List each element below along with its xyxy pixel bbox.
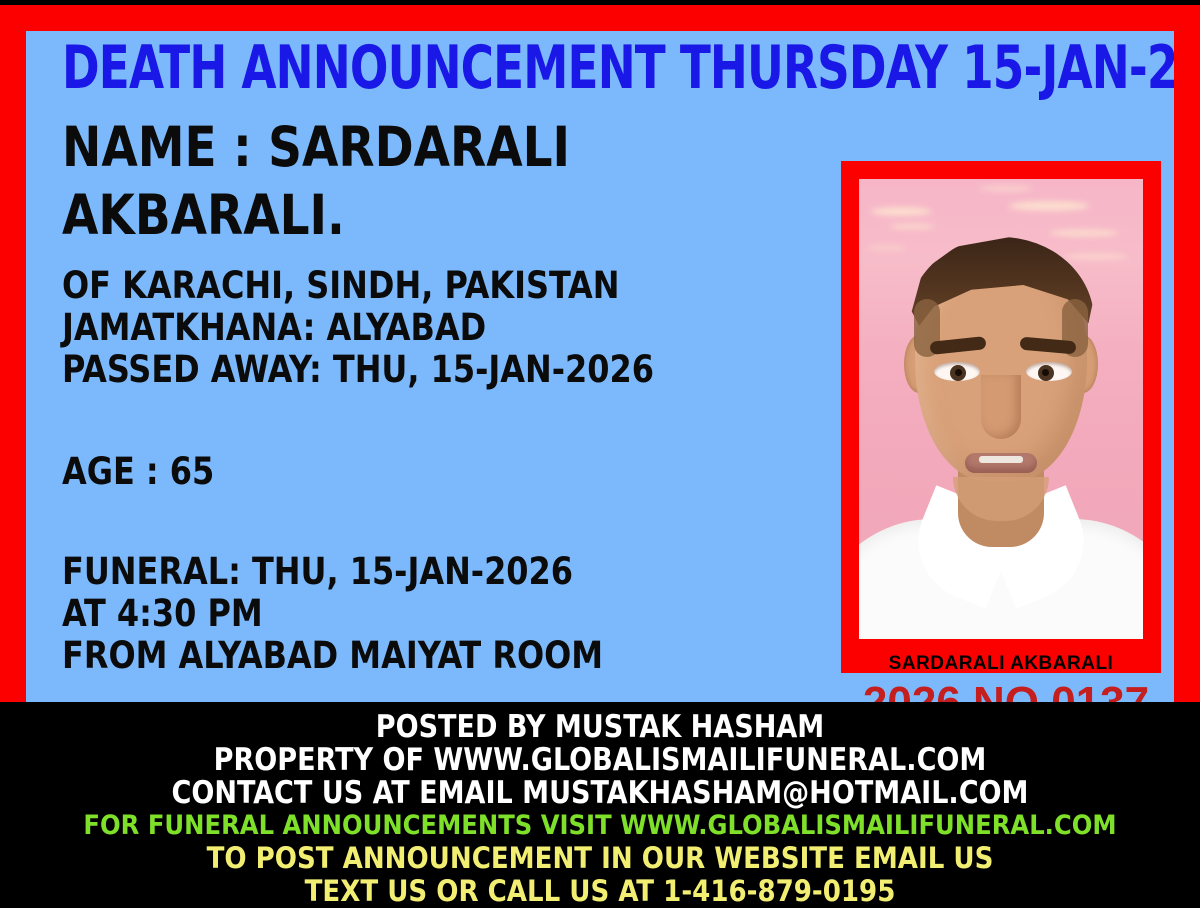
deceased-jamatkhana: JAMATKHANA: ALYABAD [62, 307, 792, 349]
cloud-streak-icon [1049, 229, 1119, 237]
cloud-streak-icon [1009, 201, 1089, 211]
main-blue-panel: DEATH ANNOUNCEMENT THURSDAY 15-JAN-2026 … [26, 31, 1174, 702]
funeral-block: FUNERAL: THU, 15-JAN-2026 AT 4:30 PM FRO… [62, 551, 792, 677]
cloud-streak-icon [871, 207, 931, 216]
pupil-left [955, 369, 962, 376]
funeral-place: FROM ALYABAD MAIYAT ROOM [62, 635, 792, 677]
deceased-name-line-2: AKBARALI. [62, 181, 784, 249]
portrait-photo-frame [841, 161, 1161, 673]
deceased-origin: OF KARACHI, SINDH, PAKISTAN [62, 265, 792, 307]
cloud-streak-icon [889, 223, 935, 230]
reference-number: 2026 NO.0137 [841, 679, 1171, 702]
teeth [979, 456, 1023, 463]
cloud-streak-icon [1064, 253, 1128, 260]
spacer-2 [62, 493, 822, 535]
nose [981, 375, 1021, 439]
deceased-origin-block: OF KARACHI, SINDH, PAKISTAN JAMATKHANA: … [62, 265, 792, 391]
footer-bar: POSTED BY MUSTAK HASHAM PROPERTY OF WWW.… [0, 702, 1200, 900]
page-title: DEATH ANNOUNCEMENT THURSDAY 15-JAN-2026 [62, 36, 986, 100]
spacer-1 [62, 391, 822, 435]
deceased-details-column: NAME : SARDARALI AKBARALI. OF KARACHI, S… [62, 113, 822, 677]
portrait-photo-caption: SARDARALI AKBARALI [841, 651, 1161, 677]
deceased-age-block: AGE : 65 [62, 451, 792, 493]
cloud-streak-icon [867, 245, 907, 251]
footer-property-of: PROPERTY OF WWW.GLOBALISMAILIFUNERAL.COM [18, 744, 1182, 777]
portrait-photo [859, 179, 1143, 639]
footer-posted-by: POSTED BY MUSTAK HASHAM [18, 702, 1182, 744]
death-announcement-poster: DEATH ANNOUNCEMENT THURSDAY 15-JAN-2026 … [0, 0, 1200, 900]
cloud-streak-icon [979, 185, 1033, 192]
pupil-right [1042, 369, 1049, 376]
deceased-passed-away: PASSED AWAY: THU, 15-JAN-2026 [62, 349, 792, 391]
footer-announcements-website: FOR FUNERAL ANNOUNCEMENTS VISIT WWW.GLOB… [0, 810, 1200, 842]
footer-post-announcement: TO POST ANNOUNCEMENT IN OUR WEBSITE EMAI… [0, 842, 1200, 875]
funeral-date: FUNERAL: THU, 15-JAN-2026 [62, 551, 792, 593]
funeral-time: AT 4:30 PM [62, 593, 792, 635]
deceased-name-line-1: NAME : SARDARALI [62, 113, 784, 181]
footer-phone: TEXT US OR CALL US AT 1-416-879-0195 [0, 875, 1200, 908]
deceased-age: AGE : 65 [62, 451, 792, 493]
footer-contact-email: CONTACT US AT EMAIL MUSTAKHASHAM@HOTMAIL… [18, 777, 1182, 810]
